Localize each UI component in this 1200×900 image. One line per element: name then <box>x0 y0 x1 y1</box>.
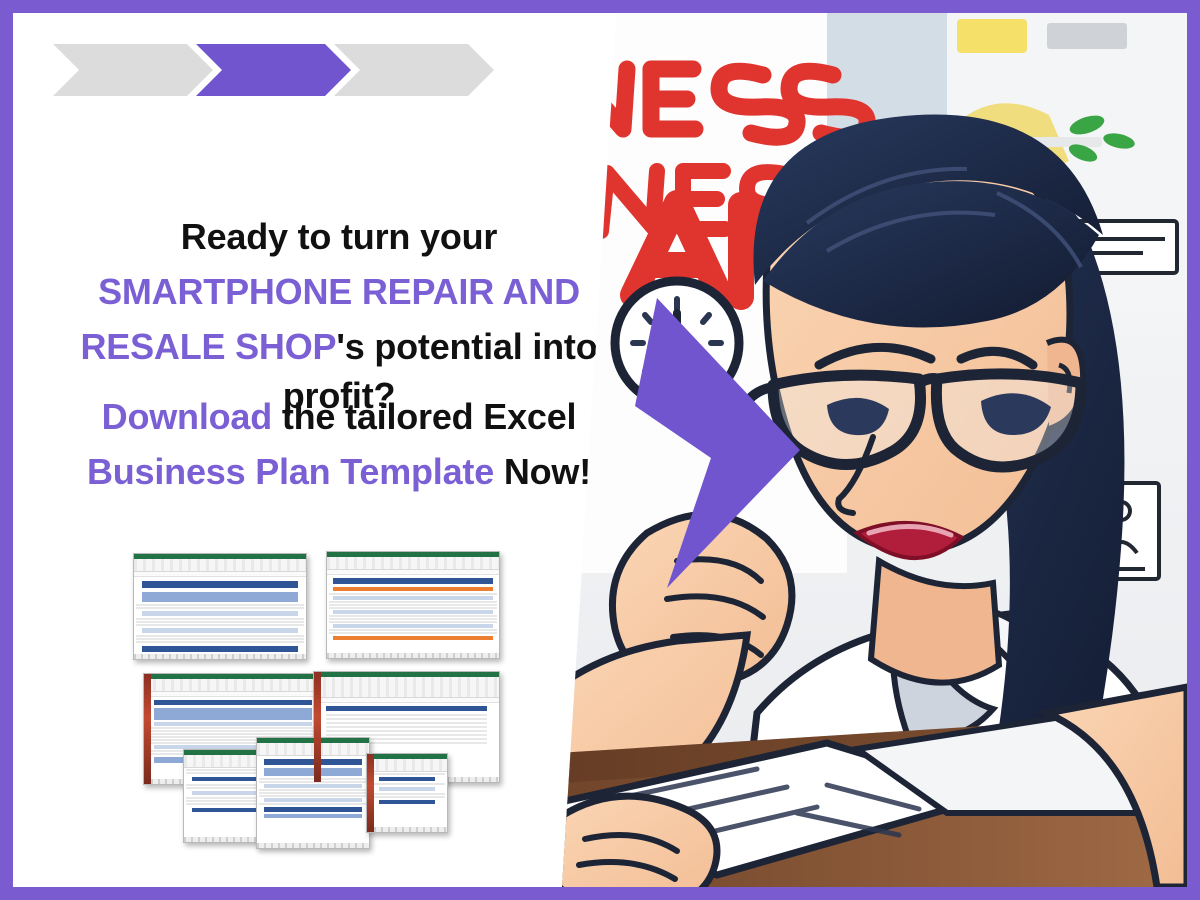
headline-line-5-rest: the tailored Excel <box>272 396 576 437</box>
excel-formula-bar <box>144 692 322 697</box>
headline-line-3: RESALE SHOP's potential into <box>29 319 649 374</box>
excel-formula-bar <box>314 698 499 703</box>
headline-line-5: Download the tailored Excel <box>29 389 649 444</box>
headline-line-2: SMARTPHONE REPAIR AND <box>29 264 649 319</box>
excel-statusbar <box>367 827 447 832</box>
spreadsheet-thumbnail <box>366 753 448 833</box>
headline-business-accent: RESALE SHOP <box>80 326 336 367</box>
headline-line-6: Business Plan Template Now! <box>29 444 649 499</box>
headline-line-1: Ready to turn your <box>29 209 649 264</box>
excel-grid <box>327 578 499 659</box>
excel-ribbon <box>327 557 499 570</box>
headline-template-accent: Business Plan Template <box>87 451 494 492</box>
poster-canvas: Ready to turn your SMARTPHONE REPAIR AND… <box>13 13 1187 887</box>
excel-formula-bar <box>134 572 306 577</box>
headline-block: Ready to turn your SMARTPHONE REPAIR AND… <box>29 209 649 499</box>
spreadsheet-thumbnail <box>133 553 307 660</box>
excel-ribbon <box>134 559 306 572</box>
excel-ribbon <box>367 759 447 772</box>
chevron-step-3 <box>334 44 494 96</box>
poster-frame: Ready to turn your SMARTPHONE REPAIR AND… <box>0 0 1200 900</box>
excel-ribbon <box>314 677 499 698</box>
headline-download-accent: Download <box>102 396 272 437</box>
excel-grid <box>367 773 447 833</box>
chevron-step-1 <box>53 44 213 96</box>
spreadsheet-thumbnail <box>256 737 370 849</box>
spreadsheet-collage <box>113 541 533 887</box>
businesswoman-illustration <box>527 13 1187 887</box>
headline-line-3-rest: 's potential into <box>336 326 597 367</box>
chevron-step-2-active <box>196 44 351 96</box>
illustration-svg <box>527 13 1187 887</box>
excel-formula-bar <box>327 570 499 575</box>
excel-ribbon <box>144 679 322 692</box>
excel-grid <box>134 581 306 660</box>
headline-line-6-rest: Now! <box>494 451 591 492</box>
excel-statusbar <box>257 843 369 848</box>
excel-statusbar <box>134 654 306 659</box>
excel-statusbar <box>327 653 499 658</box>
progress-chevron-strip <box>43 44 463 96</box>
excel-ribbon <box>257 743 369 756</box>
excel-grid <box>257 759 369 849</box>
spreadsheet-thumbnail <box>326 551 500 659</box>
wall-clock <box>615 281 739 405</box>
